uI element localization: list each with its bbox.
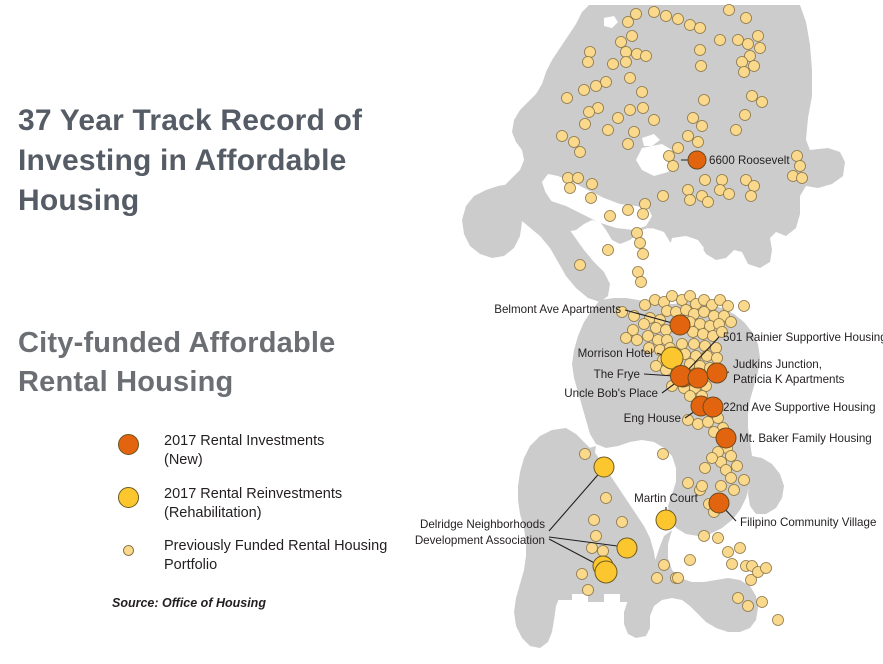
dot-judkins-junction [707, 363, 727, 383]
legend-swatch-rehab-icon [118, 487, 139, 508]
label-delridge-neighborhoods: Delridge Neighborhoods [420, 518, 545, 531]
legend-swatch-cell [118, 432, 164, 455]
legend-label-rehab: 2017 Rental Reinvestments (Rehabilitatio… [164, 485, 342, 524]
label-mt-baker-family-housing: Mt. Baker Family Housing [739, 432, 872, 445]
dot-belmont-ave-apartments [670, 315, 690, 335]
dot-delridge-a [594, 457, 614, 477]
dot-mt-baker-family-housing [716, 428, 736, 448]
label-uncle-bobs-place: Uncle Bob's Place [564, 387, 658, 400]
dot-delridge-b [617, 538, 637, 558]
label-martin-court: Martin Court [634, 492, 699, 505]
label-the-frye: The Frye [594, 368, 640, 381]
label-eng-house: Eng House [624, 412, 681, 425]
label-22nd-ave-supportive-housing: 22nd Ave Supportive Housing [723, 401, 876, 414]
landmass-east-shore [748, 456, 784, 514]
label-filipino-community-village: Filipino Community Village [740, 516, 876, 529]
dot-6600-roosevelt [688, 151, 706, 169]
dot-501-rainier-supportive-housing [688, 368, 708, 388]
legend-label-new-line1: 2017 Rental Investments [164, 432, 324, 451]
label-morrison-hotel: Morrison Hotel [578, 347, 653, 360]
label-belmont-ave-apartments: Belmont Ave Apartments [494, 303, 621, 316]
legend-label-new-line2: (New) [164, 451, 324, 470]
legend-swatch-cell [118, 537, 164, 556]
legend-label-new: 2017 Rental Investments (New) [164, 432, 324, 471]
legend-swatch-cell [118, 485, 164, 508]
landmass-west-south-blocks [556, 586, 640, 602]
legend-item-previously-funded: Previously Funded Rental Housing Portfol… [118, 537, 428, 576]
label-6600-roosevelt: 6600 Roosevelt [709, 154, 790, 167]
dot-filipino-community-village [709, 493, 729, 513]
legend-item-new-investments: 2017 Rental Investments (New) [118, 432, 428, 471]
dot-22nd-ave-supportive-housing [703, 397, 723, 417]
legend-label-rehab-line2: (Rehabilitation) [164, 504, 342, 523]
label-patricia-k-apartments: Patricia K Apartments [733, 373, 845, 386]
legend-swatch-previous-icon [123, 545, 134, 556]
legend-label-rehab-line1: 2017 Rental Reinvestments [164, 485, 342, 504]
slide-root: 6600 Roosevelt Belmont Ave Apartments 50… [0, 0, 883, 664]
legend-swatch-new-icon [118, 434, 139, 455]
label-judkins-junction: Judkins Junction, [733, 358, 822, 371]
legend-label-previous: Previously Funded Rental Housing Portfol… [164, 537, 387, 576]
legend-item-reinvestments: 2017 Rental Reinvestments (Rehabilitatio… [118, 485, 428, 524]
legend-label-previous-line1: Previously Funded Rental Housing [164, 537, 387, 556]
label-501-rainier-supportive-housing: 501 Rainier Supportive Housing [723, 331, 883, 344]
section-title: City-funded Affordable Rental Housing [18, 324, 418, 401]
map-legend: 2017 Rental Investments (New) 2017 Renta… [118, 432, 428, 590]
page-title: 37 Year Track Record of Investing in Aff… [18, 101, 418, 221]
legend-label-previous-line2: Portfolio [164, 556, 387, 575]
label-development-association: Development Association [415, 534, 545, 547]
dot-martin-court [656, 510, 676, 530]
dot-delridge-c2 [595, 561, 617, 583]
source-attribution: Source: Office of Housing [112, 596, 266, 610]
